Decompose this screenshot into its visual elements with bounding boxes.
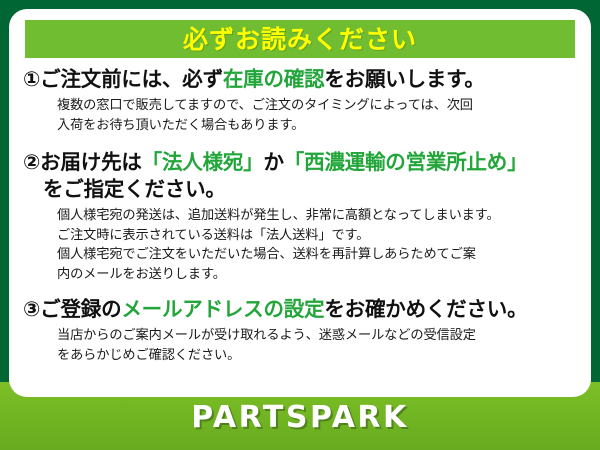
notice-item-3-sub-line-1: 当店からのご案内メールが受け取れるよう、迷惑メールなどの受信設定 [57, 326, 579, 346]
notice-item-3-sub-line-2: をあらかじめご確認ください。 [57, 346, 579, 366]
notice-item-1-marker: ① [23, 67, 40, 91]
notice-item-1-sub-line-2: 入荷をお待ち頂いただく場合もあります。 [57, 116, 579, 136]
notice-item-3-heading: ③ご登録のメールアドレスの設定をお確かめください。 [23, 296, 579, 323]
notice-item-2-heading-highlight: 「法人様宛」 [142, 150, 264, 174]
notice-item-2-sub: 個人様宅宛の発送は、追加送料が発生し、非常に高額となってしまいます。 ご注文時に… [23, 206, 579, 284]
notice-item-3-marker: ③ [23, 297, 40, 321]
notice-item-3-heading-pre: ご登録の [40, 297, 121, 321]
notice-item-1-heading-pre: ご注文前には、必ず [40, 67, 223, 91]
notice-item-2-marker: ② [23, 150, 40, 174]
notice-item-3-heading-post: をお確かめください。 [324, 297, 527, 321]
notice-item-2-heading-highlight-2: 「西濃運輸の営業所止め」 [284, 150, 528, 174]
notice-item-1-heading-post: をお願いします。 [324, 67, 484, 91]
notice-item-1-heading-highlight: 在庫の確認 [223, 67, 325, 91]
title-banner-text: 必ずお読みください [183, 27, 417, 52]
notice-item-1-heading: ①ご注文前には、必ず在庫の確認をお願いします。 [23, 66, 579, 93]
notice-body: ①ご注文前には、必ず在庫の確認をお願いします。 複数の窓口で販売してますので、ご… [9, 66, 591, 365]
notice-item-1-sub-line-1: 複数の窓口で販売してますので、ご注文のタイミングによっては、次回 [57, 96, 579, 116]
brand-wordmark: PARTSPARK [191, 403, 409, 433]
notice-item-2-sub-line-1: 個人様宅宛の発送は、追加送料が発生し、非常に高額となってしまいます。 [57, 206, 579, 226]
notice-card: 必ずお読みください ①ご注文前には、必ず在庫の確認をお願いします。 複数の窓口で… [9, 9, 591, 397]
notice-item-2-heading-line-2: をご指定ください。 [23, 176, 579, 203]
notice-item-3: ③ご登録のメールアドレスの設定をお確かめください。 当店からのご案内メールが受け… [23, 296, 579, 365]
notice-item-2: ②お届け先は「法人様宛」か「西濃運輸の営業所止め」 をご指定ください。 個人様宅… [23, 149, 579, 284]
notice-item-2-sub-line-3: 個人様宅宛でご注文をいただいた場合、送料を再計算しあらためてご案 [57, 245, 579, 265]
notice-item-2-heading-mid: か [263, 150, 283, 174]
notice-item-1-sub: 複数の窓口で販売してますので、ご注文のタイミングによっては、次回 入荷をお待ち頂… [23, 96, 579, 135]
title-banner: 必ずお読みください [25, 20, 575, 58]
notice-item-2-sub-line-2: ご注文時に表示されている送料は「法人送料」です。 [57, 226, 579, 246]
notice-item-2-heading: ②お届け先は「法人様宛」か「西濃運輸の営業所止め」 [23, 149, 579, 176]
notice-item-3-heading-highlight: メールアドレスの設定 [121, 297, 324, 321]
notice-item-1: ①ご注文前には、必ず在庫の確認をお願いします。 複数の窓口で販売してますので、ご… [23, 66, 579, 135]
notice-item-2-heading-pre: お届け先は [40, 150, 142, 174]
notice-frame: PARTSPARK 必ずお読みください ①ご注文前には、必ず在庫の確認をお願いし… [0, 0, 600, 450]
notice-item-3-sub: 当店からのご案内メールが受け取れるよう、迷惑メールなどの受信設定 をあらかじめご… [23, 326, 579, 365]
notice-item-2-sub-line-4: 内のメールをお送りします。 [57, 265, 579, 285]
